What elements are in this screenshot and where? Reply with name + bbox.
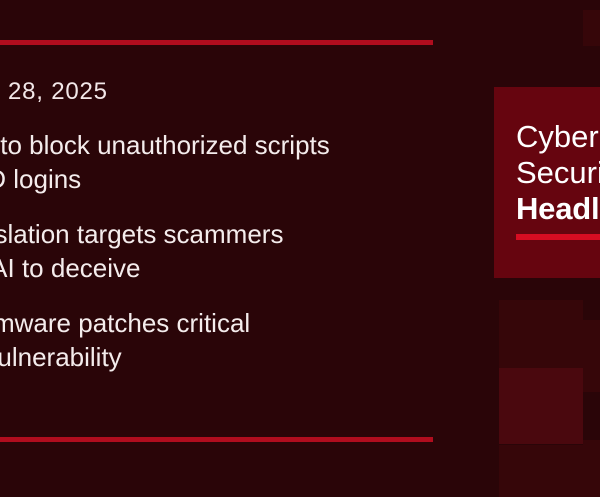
bg-square xyxy=(583,10,600,46)
headline-column: MBER 28, 2025 rosoft to block unauthoriz… xyxy=(0,78,448,395)
bg-square xyxy=(583,320,600,392)
headline-line-1: rosoft to block unauthorized scripts xyxy=(0,130,330,160)
news-headline-card: MBER 28, 2025 rosoft to block unauthoriz… xyxy=(0,0,600,497)
bg-square xyxy=(499,368,583,444)
bg-square xyxy=(583,440,600,497)
brand-logo-plate: Cyber Securi Headl xyxy=(494,87,600,278)
brand-line-security: Securi xyxy=(516,155,600,191)
headline-line-2: t use AI to deceive xyxy=(0,253,140,283)
brand-line-cyber: Cyber xyxy=(516,119,600,155)
headline-line-2: ntra ID logins xyxy=(0,164,81,194)
brand-underline xyxy=(516,234,600,240)
top-accent-rule xyxy=(0,40,433,45)
bg-square xyxy=(499,300,583,384)
headline-line-2: loud vulnerability xyxy=(0,342,122,372)
bg-square xyxy=(499,445,583,497)
brand-logo-text: Cyber Securi Headl xyxy=(516,119,600,240)
headline-line-1: w legislation targets scammers xyxy=(0,219,283,249)
headline-item[interactable]: rosoft to block unauthorized scripts ntr… xyxy=(0,128,428,196)
headline-item[interactable]: w legislation targets scammers t use AI … xyxy=(0,217,428,285)
headline-item[interactable]: US firmware patches critical loud vulner… xyxy=(0,306,428,374)
publication-date: MBER 28, 2025 xyxy=(0,78,448,106)
bottom-accent-rule xyxy=(0,437,433,442)
brand-line-headlines: Headl xyxy=(516,191,600,227)
headline-line-1: US firmware patches critical xyxy=(0,308,250,338)
